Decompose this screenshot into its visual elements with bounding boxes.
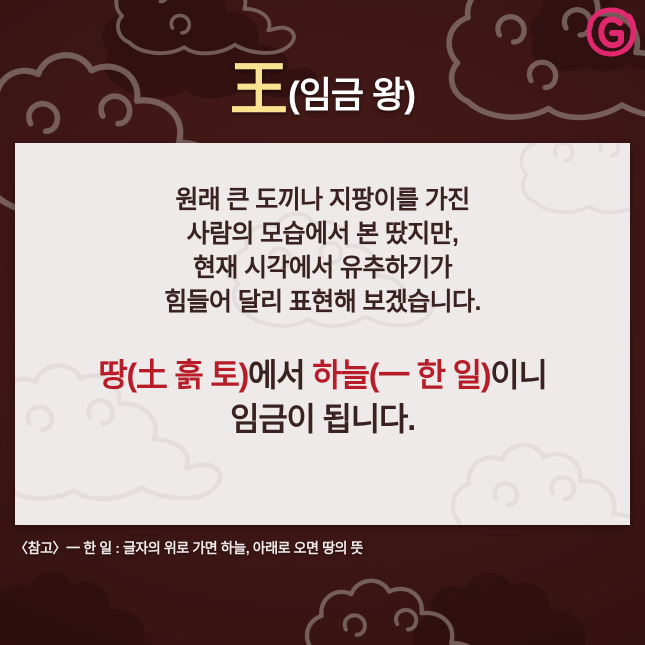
explanation-paragraph: 원래 큰 도끼나 지팡이를 가진 사람의 모습에서 본 땄지만, 현재 시각에서… bbox=[15, 183, 630, 319]
explanation-line-4: 힘들어 달리 표현해 보겠습니다. bbox=[15, 285, 630, 319]
plain-text-run: 에서 bbox=[248, 357, 312, 393]
explanation-line-2: 사람의 모습에서 본 땄지만, bbox=[15, 217, 630, 251]
plain-text-run: 이니 bbox=[490, 357, 546, 393]
brand-logo-icon[interactable] bbox=[585, 6, 637, 58]
explanation-line-1: 원래 큰 도끼나 지팡이를 가진 bbox=[15, 183, 630, 217]
content-card: 원래 큰 도끼나 지팡이를 가진 사람의 모습에서 본 땄지만, 현재 시각에서… bbox=[15, 143, 630, 525]
reference-note: 〈참고〉一 한 일 : 글자의 위로 가면 하늘, 아래로 오면 땅의 뜻 bbox=[14, 538, 363, 558]
conclusion-line-1: 땅(土 흙 토)에서 하늘(一 한 일)이니 bbox=[15, 353, 630, 397]
highlighted-term: 하늘(一 한 일) bbox=[312, 357, 490, 393]
conclusion-line-2: 임금이 됩니다. bbox=[15, 397, 630, 441]
title-reading: (임금 왕) bbox=[288, 74, 415, 115]
page-title: 王(임금 왕) bbox=[0, 42, 645, 126]
slide-root: 王(임금 왕) bbox=[0, 0, 645, 645]
card-text-body: 원래 큰 도끼나 지팡이를 가진 사람의 모습에서 본 땄지만, 현재 시각에서… bbox=[15, 143, 630, 525]
title-hanja: 王 bbox=[230, 57, 288, 122]
conclusion-paragraph: 땅(土 흙 토)에서 하늘(一 한 일)이니 임금이 됩니다. bbox=[15, 353, 630, 441]
highlighted-term: 땅(土 흙 토) bbox=[98, 357, 248, 393]
explanation-line-3: 현재 시각에서 유추하기가 bbox=[15, 251, 630, 285]
plain-text-run: 임금이 됩니다. bbox=[230, 401, 415, 437]
